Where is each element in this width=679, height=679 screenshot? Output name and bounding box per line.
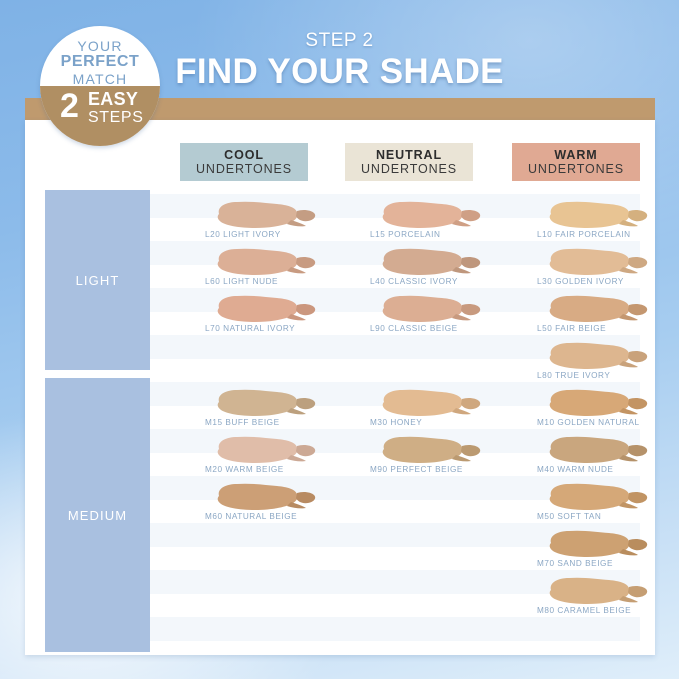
shade-code-label: L80 TRUE IVORY xyxy=(537,371,677,380)
shade-swatch[interactable]: L30 GOLDEN IVORY xyxy=(537,247,677,293)
foundation-smear-icon xyxy=(545,576,653,606)
category-label: LIGHT xyxy=(76,273,120,288)
column-header-neutral: NEUTRALUNDERTONES xyxy=(345,143,473,181)
foundation-smear-icon xyxy=(545,247,653,277)
column-title: WARM xyxy=(512,148,640,162)
foundation-smear-icon xyxy=(378,200,486,230)
shade-code-label: M15 BUFF BEIGE xyxy=(205,418,345,427)
foundation-smear-icon xyxy=(545,200,653,230)
foundation-smear-icon xyxy=(378,388,486,418)
column-title: NEUTRAL xyxy=(345,148,473,162)
foundation-smear-icon xyxy=(545,529,653,559)
shade-swatch[interactable]: L90 CLASSIC BEIGE xyxy=(370,294,510,340)
foundation-smear-icon xyxy=(213,388,321,418)
foundation-smear-icon xyxy=(545,388,653,418)
shade-swatch[interactable]: M50 SOFT TAN xyxy=(537,482,677,528)
category-label: MEDIUM xyxy=(68,508,127,523)
shade-swatch[interactable]: M20 WARM BEIGE xyxy=(205,435,345,481)
column-header-cool: COOLUNDERTONES xyxy=(180,143,308,181)
shade-code-label: M30 HONEY xyxy=(370,418,510,427)
column-subtitle: UNDERTONES xyxy=(512,162,640,176)
shade-code-label: L30 GOLDEN IVORY xyxy=(537,277,677,286)
shade-code-label: M60 NATURAL BEIGE xyxy=(205,512,345,521)
column-title: COOL xyxy=(180,148,308,162)
column-header-warm: WARMUNDERTONES xyxy=(512,143,640,181)
shade-swatch[interactable]: L20 LIGHT IVORY xyxy=(205,200,345,246)
badge-easy-label: EASY xyxy=(88,90,138,108)
badge-line-your: YOUR xyxy=(40,38,160,54)
foundation-smear-icon xyxy=(545,482,653,512)
shade-swatch[interactable]: L70 NATURAL IVORY xyxy=(205,294,345,340)
foundation-smear-icon xyxy=(545,435,653,465)
column-subtitle: UNDERTONES xyxy=(180,162,308,176)
foundation-smear-icon xyxy=(378,435,486,465)
foundation-smear-icon xyxy=(545,341,653,371)
foundation-smear-icon xyxy=(378,294,486,324)
shade-swatch[interactable]: M15 BUFF BEIGE xyxy=(205,388,345,434)
column-subtitle: UNDERTONES xyxy=(345,162,473,176)
badge-steps-label: STEPS xyxy=(88,110,143,126)
badge-line-match: MATCH xyxy=(40,71,160,87)
category-panel-medium: MEDIUM xyxy=(45,378,150,652)
shade-swatch[interactable]: M60 NATURAL BEIGE xyxy=(205,482,345,528)
shade-swatch[interactable]: L50 FAIR BEIGE xyxy=(537,294,677,340)
shade-code-label: M50 SOFT TAN xyxy=(537,512,677,521)
shade-code-label: M40 WARM NUDE xyxy=(537,465,677,474)
shade-swatch[interactable]: M90 PERFECT BEIGE xyxy=(370,435,510,481)
shade-swatch[interactable]: M80 CARAMEL BEIGE xyxy=(537,576,677,622)
shade-code-label: L90 CLASSIC BEIGE xyxy=(370,324,510,333)
badge-line-perfect: PERFECT xyxy=(40,53,160,71)
foundation-smear-icon xyxy=(213,435,321,465)
foundation-smear-icon xyxy=(213,247,321,277)
perfect-match-badge: YOUR PERFECT MATCH 2 EASY STEPS xyxy=(40,26,160,146)
shade-code-label: L20 LIGHT IVORY xyxy=(205,230,345,239)
shade-code-label: M70 SAND BEIGE xyxy=(537,559,677,568)
shade-code-label: M80 CARAMEL BEIGE xyxy=(537,606,677,615)
shade-swatch[interactable]: L80 TRUE IVORY xyxy=(537,341,677,387)
shade-code-label: L60 LIGHT NUDE xyxy=(205,277,345,286)
shade-swatch[interactable]: L15 PORCELAIN xyxy=(370,200,510,246)
shade-swatch[interactable]: L10 FAIR PORCELAIN xyxy=(537,200,677,246)
shade-swatch[interactable]: M10 GOLDEN NATURAL xyxy=(537,388,677,434)
foundation-smear-icon xyxy=(213,482,321,512)
badge-number: 2 xyxy=(60,89,79,123)
shade-swatch[interactable]: M70 SAND BEIGE xyxy=(537,529,677,575)
shade-code-label: L40 CLASSIC IVORY xyxy=(370,277,510,286)
shade-swatch[interactable]: M40 WARM NUDE xyxy=(537,435,677,481)
category-panel-light: LIGHT xyxy=(45,190,150,370)
shade-swatch[interactable]: M30 HONEY xyxy=(370,388,510,434)
shade-swatch[interactable]: L40 CLASSIC IVORY xyxy=(370,247,510,293)
foundation-smear-icon xyxy=(378,247,486,277)
foundation-smear-icon xyxy=(213,200,321,230)
shade-code-label: L70 NATURAL IVORY xyxy=(205,324,345,333)
foundation-smear-icon xyxy=(213,294,321,324)
shade-swatch[interactable]: L60 LIGHT NUDE xyxy=(205,247,345,293)
shade-code-label: L10 FAIR PORCELAIN xyxy=(537,230,677,239)
shade-code-label: L50 FAIR BEIGE xyxy=(537,324,677,333)
shade-code-label: M90 PERFECT BEIGE xyxy=(370,465,510,474)
shade-code-label: M10 GOLDEN NATURAL xyxy=(537,418,677,427)
shade-code-label: M20 WARM BEIGE xyxy=(205,465,345,474)
shade-code-label: L15 PORCELAIN xyxy=(370,230,510,239)
foundation-smear-icon xyxy=(545,294,653,324)
